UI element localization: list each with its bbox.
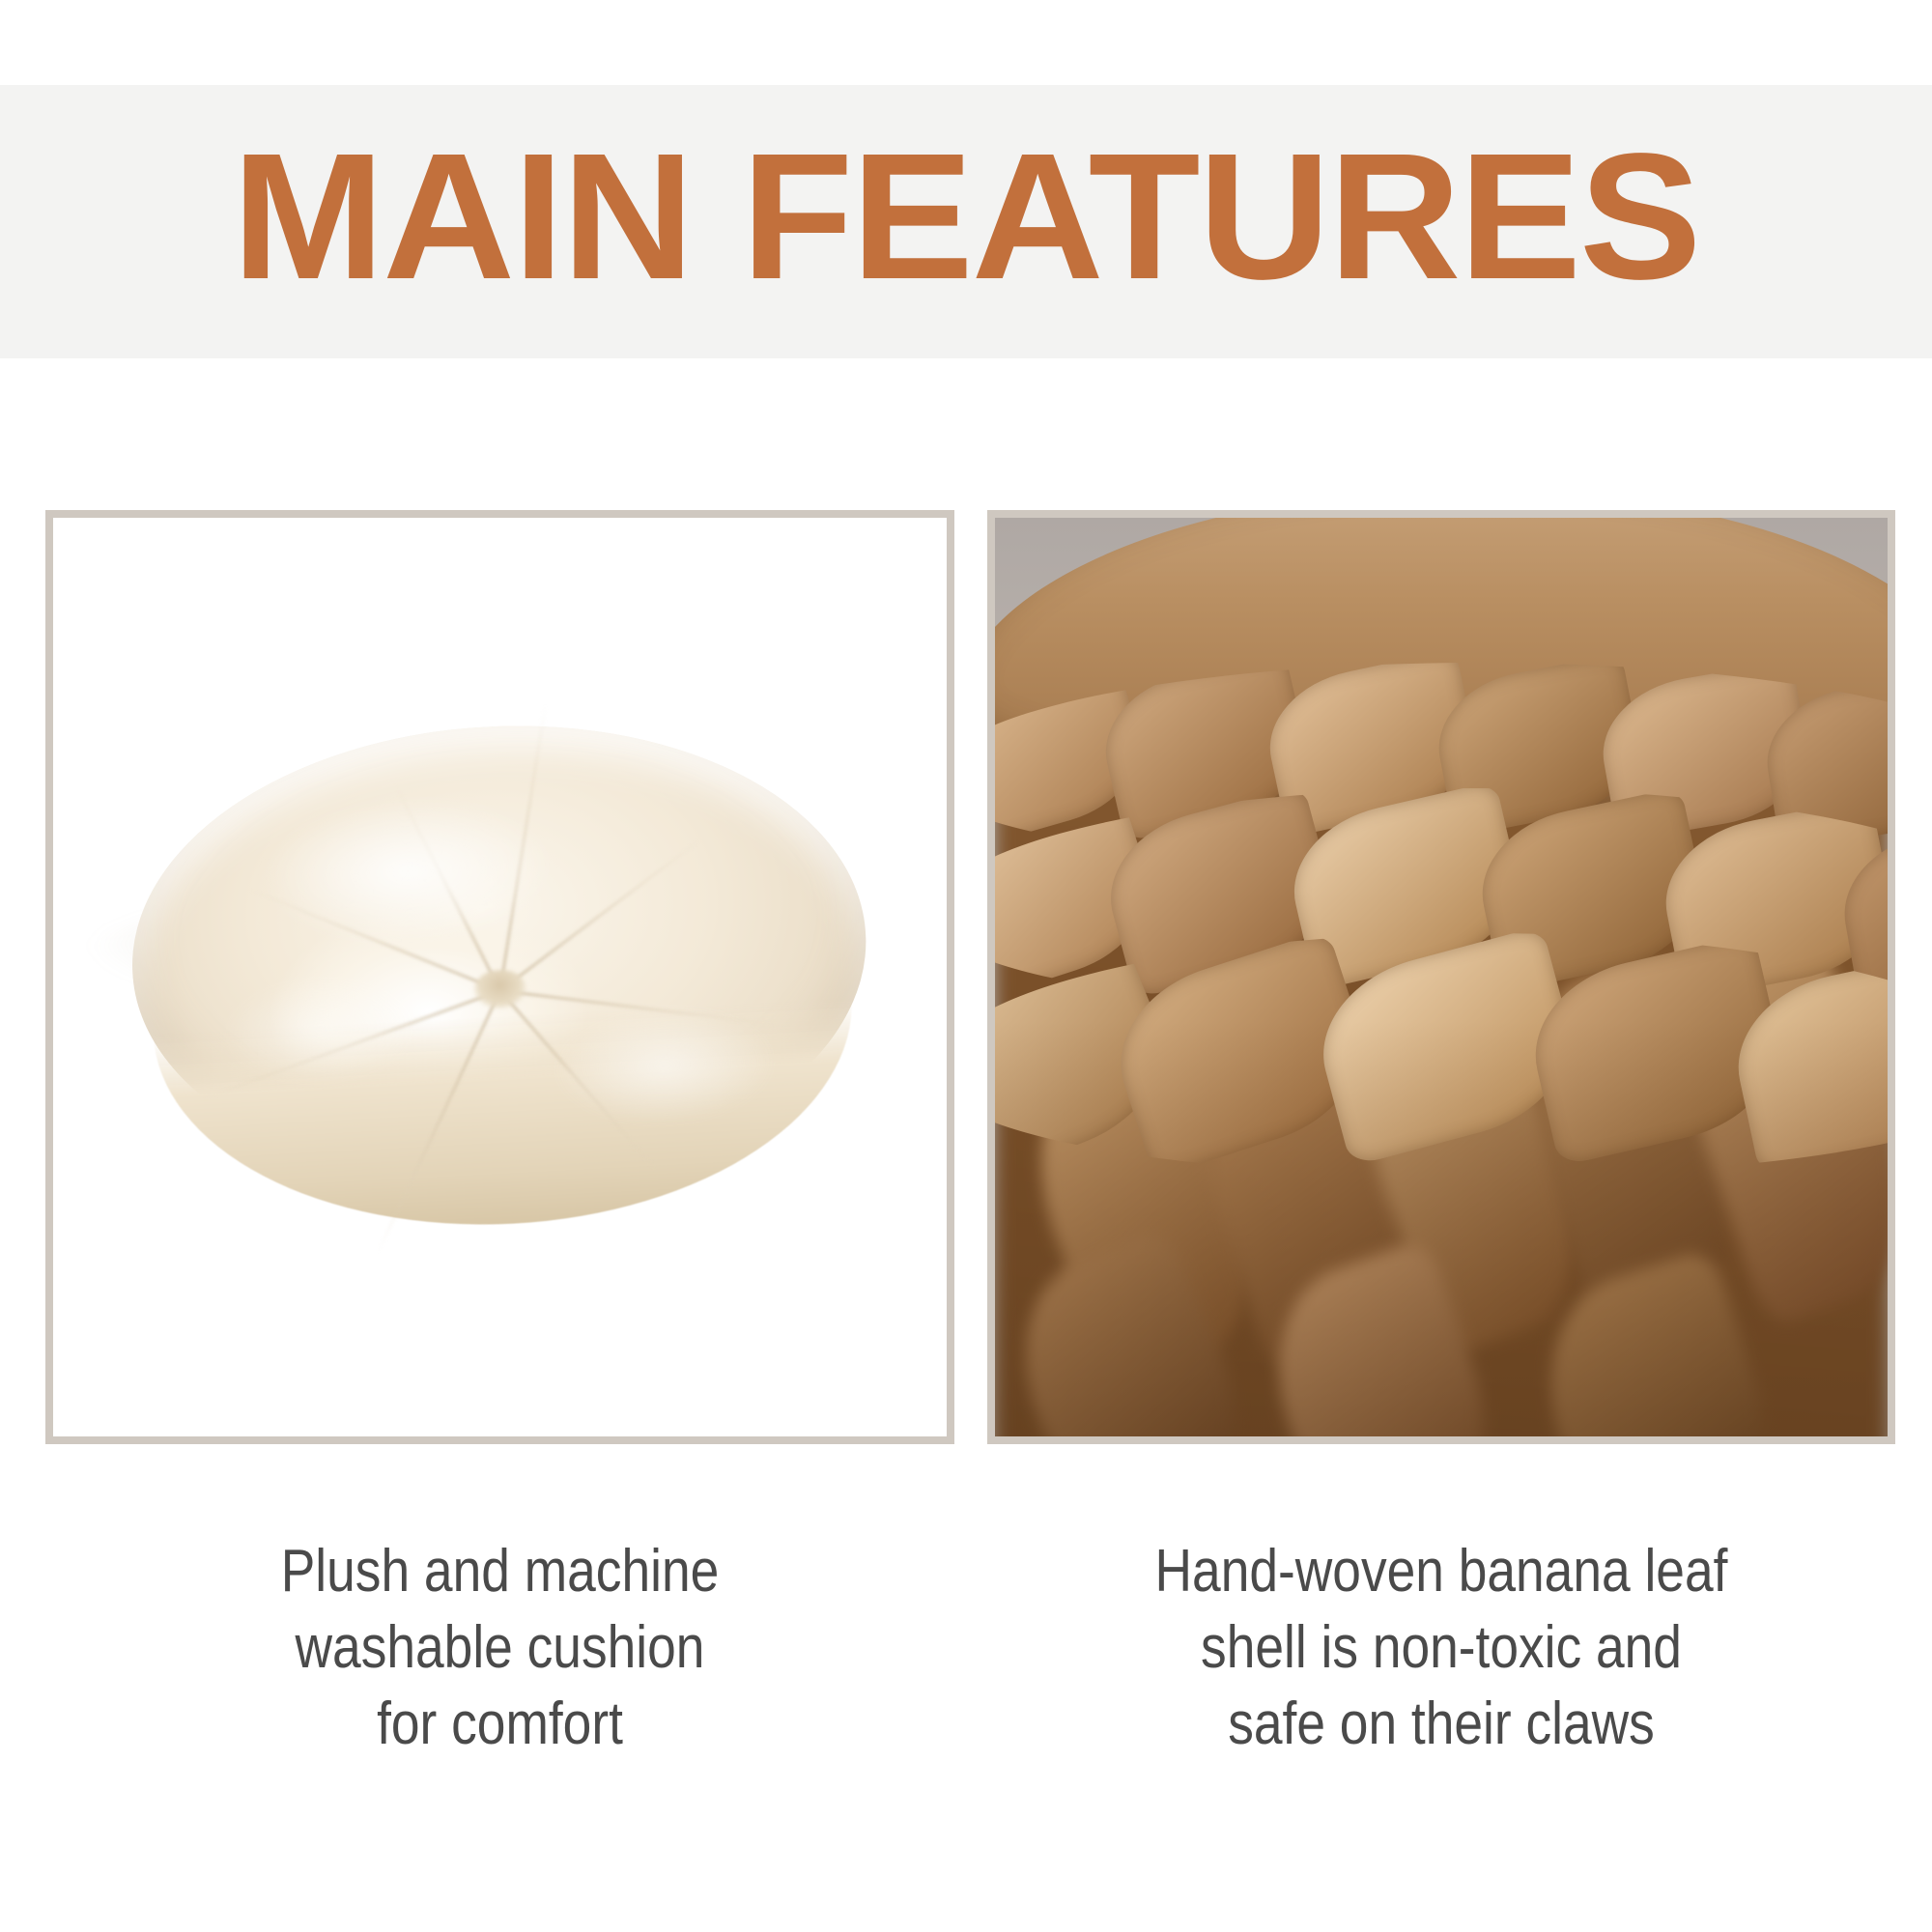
cushion-product-image bbox=[53, 518, 947, 1436]
cushion-photo-frame bbox=[45, 510, 954, 1444]
caption-line: for comfort bbox=[109, 1686, 891, 1762]
caption-line: Plush and machine bbox=[109, 1533, 891, 1609]
weave-photo-frame bbox=[987, 510, 1895, 1444]
woven-shell-image bbox=[995, 518, 1888, 1436]
depth-of-field-veil bbox=[995, 1020, 1888, 1436]
caption-line: washable cushion bbox=[109, 1609, 891, 1686]
feature-card-woven-shell: Hand-woven banana leaf shell is non-toxi… bbox=[987, 510, 1895, 1762]
caption-cushion: Plush and machine washable cushion for c… bbox=[109, 1533, 891, 1762]
features-grid: Plush and machine washable cushion for c… bbox=[0, 0, 1932, 1932]
caption-line: shell is non-toxic and bbox=[1051, 1609, 1832, 1686]
caption-line: Hand-woven banana leaf bbox=[1051, 1533, 1832, 1609]
caption-woven-shell: Hand-woven banana leaf shell is non-toxi… bbox=[1051, 1533, 1832, 1762]
cushion-illustration bbox=[120, 707, 879, 1247]
caption-line: safe on their claws bbox=[1051, 1686, 1832, 1762]
feature-card-cushion: Plush and machine washable cushion for c… bbox=[45, 510, 954, 1762]
